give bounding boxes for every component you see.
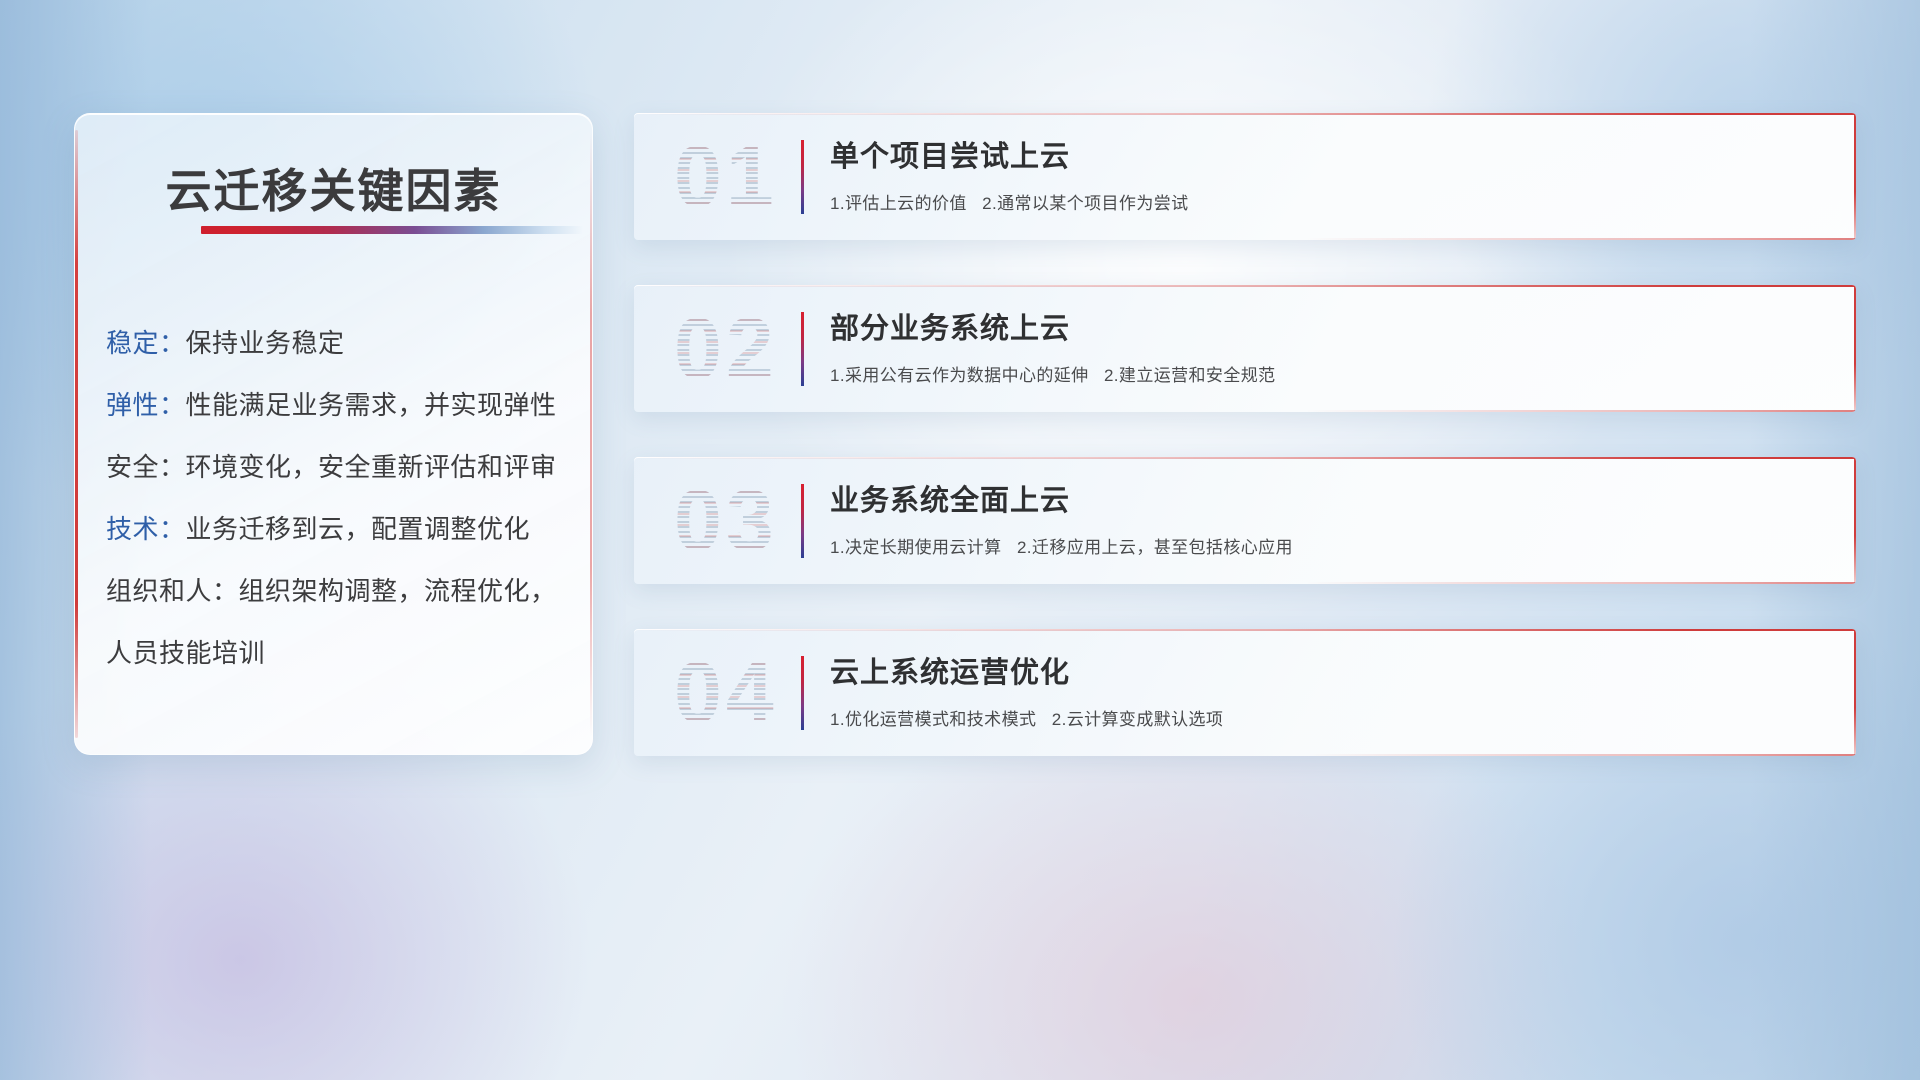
panel-left-accent-bar — [75, 130, 78, 738]
card-step-number-tint: 03 — [674, 471, 854, 571]
key-factor-line: 弹性：性能满足业务需求，并实现弹性 — [106, 374, 570, 436]
key-factors-panel: 云迁移关键因素 稳定：保持业务稳定弹性：性能满足业务需求，并实现弹性安全：环境变… — [74, 113, 593, 755]
card-bottom-accent-line — [634, 754, 1856, 756]
stage-cards-list: 0101单个项目尝试上云1.评估上云的价值 2.通常以某个项目作为尝试0202部… — [634, 113, 1856, 756]
card-divider-bar — [801, 312, 804, 386]
key-factor-label: 组织和人： — [106, 576, 239, 606]
key-factor-label: 稳定： — [106, 328, 186, 358]
card-right-accent-line — [1854, 113, 1856, 240]
key-factor-text: 业务迁移到云，配置调整优化 — [186, 514, 531, 544]
key-factor-line: 人员技能培训 — [106, 622, 570, 684]
card-bottom-accent-line — [634, 582, 1856, 584]
key-factor-text: 组织架构调整，流程优化， — [239, 576, 557, 606]
stage-card[interactable]: 0202部分业务系统上云1.采用公有云作为数据中心的延伸 2.建立运营和安全规范 — [634, 285, 1856, 412]
card-bottom-accent-line — [634, 238, 1856, 240]
card-divider-bar — [801, 656, 804, 730]
card-bottom-accent-line — [634, 410, 1856, 412]
card-subtitle: 1.评估上云的价值 2.通常以某个项目作为尝试 — [830, 189, 1832, 214]
key-factor-text: 保持业务稳定 — [186, 328, 345, 358]
card-subtitle: 1.采用公有云作为数据中心的延伸 2.建立运营和安全规范 — [830, 361, 1832, 386]
card-step-number: 02 — [674, 299, 854, 399]
stage-card[interactable]: 0404云上系统运营优化1.优化运营模式和技术模式 2.云计算变成默认选项 — [634, 629, 1856, 756]
panel-title-underline — [201, 226, 583, 234]
key-factor-line: 稳定：保持业务稳定 — [106, 312, 570, 374]
card-title: 云上系统运营优化 — [830, 653, 1832, 693]
card-title: 单个项目尝试上云 — [830, 137, 1832, 177]
key-factor-line: 技术：业务迁移到云，配置调整优化 — [106, 498, 570, 560]
card-step-number: 04 — [674, 643, 854, 743]
key-factor-text: 环境变化，安全重新评估和评审 — [186, 452, 557, 482]
key-factors-list: 稳定：保持业务稳定弹性：性能满足业务需求，并实现弹性安全：环境变化，安全重新评估… — [106, 312, 570, 684]
stage-card[interactable]: 0303业务系统全面上云1.决定长期使用云计算 2.迁移应用上云，甚至包括核心应… — [634, 457, 1856, 584]
key-factor-label: 技术： — [106, 514, 186, 544]
card-step-number-tint: 01 — [674, 127, 854, 227]
slide-stage: 云迁移关键因素 稳定：保持业务稳定弹性：性能满足业务需求，并实现弹性安全：环境变… — [0, 0, 1920, 1080]
card-title: 部分业务系统上云 — [830, 309, 1832, 349]
key-factor-label: 安全： — [106, 452, 186, 482]
card-right-accent-line — [1854, 285, 1856, 412]
key-factor-text: 性能满足业务需求，并实现弹性 — [186, 390, 557, 420]
card-step-number: 03 — [674, 471, 854, 571]
card-top-accent-line — [634, 629, 1856, 631]
key-factor-line: 组织和人：组织架构调整，流程优化， — [106, 560, 570, 622]
card-top-accent-line — [634, 457, 1856, 459]
card-body: 部分业务系统上云1.采用公有云作为数据中心的延伸 2.建立运营和安全规范 — [830, 309, 1832, 386]
card-subtitle: 1.优化运营模式和技术模式 2.云计算变成默认选项 — [830, 705, 1832, 730]
card-top-accent-line — [634, 113, 1856, 115]
card-top-accent-line — [634, 285, 1856, 287]
key-factor-line: 安全：环境变化，安全重新评估和评审 — [106, 436, 570, 498]
card-right-accent-line — [1854, 457, 1856, 584]
stage-card[interactable]: 0101单个项目尝试上云1.评估上云的价值 2.通常以某个项目作为尝试 — [634, 113, 1856, 240]
card-title: 业务系统全面上云 — [830, 481, 1832, 521]
panel-right-accent-bar — [590, 132, 592, 736]
card-step-number-tint: 04 — [674, 643, 854, 743]
key-factor-text: 人员技能培训 — [106, 638, 265, 668]
key-factor-label: 弹性： — [106, 390, 186, 420]
panel-title: 云迁移关键因素 — [75, 155, 592, 221]
card-divider-bar — [801, 140, 804, 214]
card-right-accent-line — [1854, 629, 1856, 756]
card-body: 业务系统全面上云1.决定长期使用云计算 2.迁移应用上云，甚至包括核心应用 — [830, 481, 1832, 558]
card-divider-bar — [801, 484, 804, 558]
card-step-number-tint: 02 — [674, 299, 854, 399]
card-step-number: 01 — [674, 127, 854, 227]
card-subtitle: 1.决定长期使用云计算 2.迁移应用上云，甚至包括核心应用 — [830, 533, 1832, 558]
card-body: 单个项目尝试上云1.评估上云的价值 2.通常以某个项目作为尝试 — [830, 137, 1832, 214]
card-body: 云上系统运营优化1.优化运营模式和技术模式 2.云计算变成默认选项 — [830, 653, 1832, 730]
